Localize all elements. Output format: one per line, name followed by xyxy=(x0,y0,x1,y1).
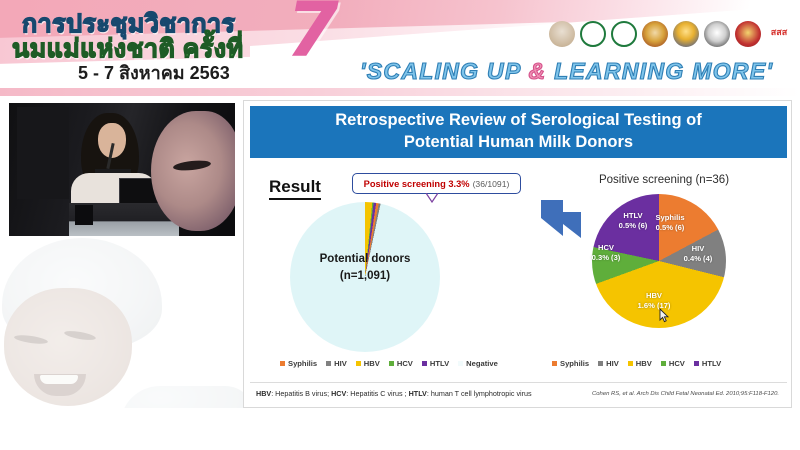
tagline-ampersand: & xyxy=(528,58,546,84)
potential-donors-count: (n=1,091) xyxy=(290,268,440,285)
legend-item-hcv: HCV xyxy=(389,359,413,368)
pie-slice-label-hiv: HIV 0.4% (4) xyxy=(676,244,720,264)
bottom-whitespace xyxy=(0,408,800,450)
source-citation: Cohen RS, et al. Arch Dis Child Fetal Ne… xyxy=(592,391,779,397)
abbreviation-note: HBV: Hepatitis B virus; HCV: Hepatitis C… xyxy=(250,389,532,398)
legend-swatch-htlv-right xyxy=(694,361,699,366)
legend-label-hiv-right: HIV xyxy=(606,359,619,368)
legend-swatch-hcv-right xyxy=(661,361,666,366)
pie-slice-value-hcv: 0.3% (3) xyxy=(584,253,628,263)
callout-fraction-text: (36/1091) xyxy=(473,179,510,189)
right-chart-legend: Syphilis HIV HBV HCV HTLV xyxy=(552,359,721,368)
slide-title-bar: Retrospective Review of Serological Test… xyxy=(250,106,787,158)
abbr-htlv-value: : human T cell lymphotropic virus xyxy=(427,389,532,398)
legend-swatch-htlv xyxy=(422,361,427,366)
result-heading: Result xyxy=(269,177,321,200)
tagline-part2: LEARNING MORE' xyxy=(546,58,773,84)
conference-date: 5 - 7 สิงหาคม 2563 xyxy=(78,58,230,87)
red-crest-logo xyxy=(735,21,761,47)
legend-label-hbv: HBV xyxy=(364,359,380,368)
ministry-of-public-health-logo xyxy=(580,21,606,47)
legend-swatch-hcv xyxy=(389,361,394,366)
legend-label-htlv: HTLV xyxy=(430,359,449,368)
legend-swatch-hbv-right xyxy=(628,361,633,366)
legend-label-htlv-right: HTLV xyxy=(702,359,721,368)
pie-slice-name-htlv: HTLV xyxy=(610,211,656,221)
legend-item-syphilis-right: Syphilis xyxy=(552,359,589,368)
pie-slice-label-htlv: HTLV 0.5% (6) xyxy=(610,211,656,231)
legend-label-hiv: HIV xyxy=(334,359,347,368)
legend-swatch-hiv xyxy=(326,361,331,366)
pie-slice-name-hbv: HBV xyxy=(624,291,684,301)
presentation-slide: Retrospective Review of Serological Test… xyxy=(243,100,792,408)
legend-swatch-hiv-right xyxy=(598,361,603,366)
legend-item-hcv-right: HCV xyxy=(661,359,685,368)
left-chart-legend: Syphilis HIV HBV HCV HTLV Negative xyxy=(280,359,498,368)
pie-slice-name-hiv: HIV xyxy=(676,244,720,254)
legend-item-htlv-right: HTLV xyxy=(694,359,721,368)
legend-item-hbv: HBV xyxy=(356,359,380,368)
slide-footnote: HBV: Hepatitis B virus; HCV: Hepatitis C… xyxy=(250,382,787,404)
abbr-htlv-key: HTLV xyxy=(409,389,427,398)
callout-percentage-text: Positive screening 3.3% xyxy=(364,179,470,189)
conference-edition-number: 7 xyxy=(286,0,339,68)
legend-swatch-syphilis xyxy=(280,361,285,366)
slide-screenshot: การประชุมวิชาการ นมแม่แห่งชาติ ครั้งที่ … xyxy=(0,0,800,450)
sponsor-logo-row: สสส xyxy=(549,21,792,47)
potential-donors-title: Potential donors xyxy=(290,251,440,268)
transition-arrow-icon xyxy=(537,196,587,242)
legend-swatch-hbv xyxy=(356,361,361,366)
mouse-cursor-icon xyxy=(659,308,670,323)
pie-slice-name-hcv: HCV xyxy=(584,243,628,253)
video-wall-panel xyxy=(17,107,69,199)
health-department-logo xyxy=(611,21,637,47)
callout-tail-icon xyxy=(426,193,438,203)
abbr-hbv-key: HBV xyxy=(256,389,271,398)
legend-swatch-negative xyxy=(458,361,463,366)
abbr-hcv-value: : Hepatitis C virus ; xyxy=(346,389,408,398)
black-circle-institute-logo xyxy=(704,21,730,47)
podium-panel xyxy=(75,205,93,225)
banner-bottom-strip xyxy=(0,88,800,96)
legend-label-syphilis: Syphilis xyxy=(288,359,317,368)
legend-label-hbv-right: HBV xyxy=(636,359,652,368)
baby-teeth xyxy=(40,375,78,384)
conference-tagline: 'SCALING UP & LEARNING MORE' xyxy=(360,58,773,85)
thaihealth-sss-logo: สสส xyxy=(766,21,792,47)
legend-label-syphilis-right: Syphilis xyxy=(560,359,589,368)
legend-label-negative: Negative xyxy=(466,359,498,368)
slide-title-line1: Retrospective Review of Serological Test… xyxy=(335,110,701,132)
abbr-hcv-key: HCV xyxy=(331,389,346,398)
positive-screening-callout: Positive screening 3.3% (36/1091) xyxy=(352,173,521,194)
legend-label-hcv: HCV xyxy=(397,359,413,368)
abbr-hbv-value: : Hepatitis B virus; xyxy=(271,389,331,398)
pie-slice-label-hbv: HBV 1.6% (17) xyxy=(624,291,684,311)
slide-title-line2: Potential Human Milk Donors xyxy=(404,132,633,154)
pie-slice-value-hbv: 1.6% (17) xyxy=(624,301,684,311)
potential-donors-pie-label: Potential donors (n=1,091) xyxy=(290,251,440,284)
legend-swatch-syphilis-right xyxy=(552,361,557,366)
pie-slice-value-hiv: 0.4% (4) xyxy=(676,254,720,264)
royal-crest-logo xyxy=(642,21,668,47)
speaker-video-thumbnail[interactable] xyxy=(9,103,235,236)
legend-item-hiv-right: HIV xyxy=(598,359,619,368)
legend-item-hiv: HIV xyxy=(326,359,347,368)
legend-label-hcv-right: HCV xyxy=(669,359,685,368)
royal-seal-logo xyxy=(549,21,575,47)
legend-item-hbv-right: HBV xyxy=(628,359,652,368)
positive-screening-pie-heading: Positive screening (n=36) xyxy=(544,174,784,186)
pie-slice-value-htlv: 0.5% (6) xyxy=(610,221,656,231)
legend-item-negative: Negative xyxy=(458,359,498,368)
garuda-emblem-logo xyxy=(673,21,699,47)
pie-slice-label-hcv: HCV 0.3% (3) xyxy=(584,243,628,263)
overlay-face-graphic xyxy=(151,111,235,231)
tagline-part1: 'SCALING UP xyxy=(360,58,528,84)
legend-item-syphilis: Syphilis xyxy=(280,359,317,368)
legend-item-htlv: HTLV xyxy=(422,359,449,368)
conference-banner: การประชุมวิชาการ นมแม่แห่งชาติ ครั้งที่ … xyxy=(0,0,800,96)
